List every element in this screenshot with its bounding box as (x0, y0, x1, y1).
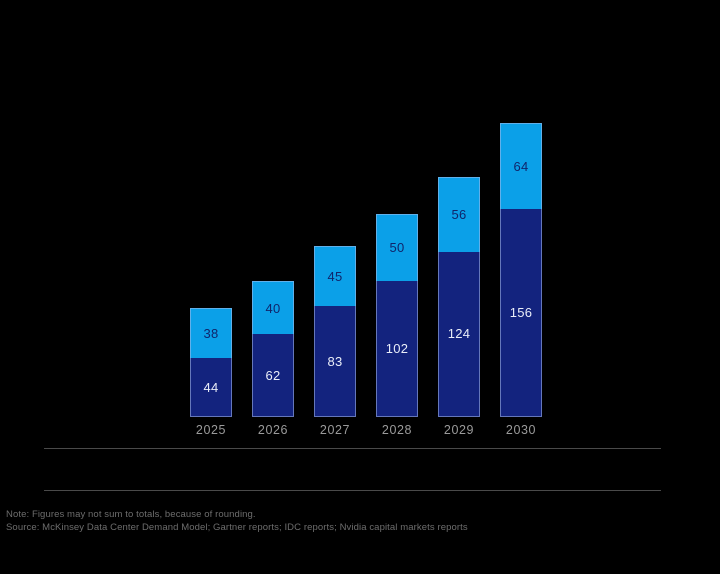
bar-value-label: 44 (203, 381, 218, 394)
x-axis-tick-labels: 202520262027202820292030 (185, 423, 545, 441)
bar-value-label: 83 (327, 355, 342, 368)
divider-rule-bottom (44, 490, 661, 491)
bar-value-label: 102 (386, 342, 409, 355)
x-tick-label-2025: 2025 (190, 423, 232, 437)
bar-segment-lower-2027[interactable]: 83 (314, 306, 356, 417)
bar-segment-upper-2026[interactable]: 40 (252, 281, 294, 334)
bar-segment-upper-2028[interactable]: 50 (376, 214, 418, 281)
bar-group-2026[interactable]: 4062 (252, 281, 294, 417)
x-tick-label-2029: 2029 (438, 423, 480, 437)
bar-group-2027[interactable]: 4583 (314, 246, 356, 417)
bar-value-label: 62 (265, 369, 280, 382)
bar-segment-lower-2029[interactable]: 124 (438, 252, 480, 418)
x-tick-label-2027: 2027 (314, 423, 356, 437)
x-tick-label-2026: 2026 (252, 423, 294, 437)
bar-segment-upper-2029[interactable]: 56 (438, 177, 480, 252)
plot-area: 384440624583501025612464156 (185, 110, 545, 417)
bar-group-2025[interactable]: 3844 (190, 308, 232, 417)
bar-value-label: 56 (451, 208, 466, 221)
bar-group-2028[interactable]: 50102 (376, 214, 418, 417)
divider-rule-top (44, 448, 661, 449)
bar-value-label: 45 (327, 270, 342, 283)
bar-group-2029[interactable]: 56124 (438, 177, 480, 417)
bar-group-2030[interactable]: 64156 (500, 123, 542, 417)
bar-value-label: 40 (265, 302, 280, 315)
bar-value-label: 156 (510, 306, 533, 319)
bar-value-label: 124 (448, 327, 471, 340)
x-tick-label-2030: 2030 (500, 423, 542, 437)
bar-value-label: 50 (389, 241, 404, 254)
bar-segment-lower-2028[interactable]: 102 (376, 281, 418, 417)
bar-segment-upper-2025[interactable]: 38 (190, 308, 232, 359)
footnote-note: Note: Figures may not sum to totals, bec… (6, 508, 706, 521)
x-tick-label-2028: 2028 (376, 423, 418, 437)
bar-segment-lower-2030[interactable]: 156 (500, 209, 542, 417)
bar-segment-lower-2025[interactable]: 44 (190, 358, 232, 417)
bar-value-label: 64 (513, 160, 528, 173)
chart-canvas: 384440624583501025612464156 202520262027… (0, 0, 720, 574)
footnote-block: Note: Figures may not sum to totals, bec… (6, 508, 706, 534)
bar-value-label: 38 (203, 327, 218, 340)
bar-segment-upper-2030[interactable]: 64 (500, 123, 542, 208)
footnote-source: Source: McKinsey Data Center Demand Mode… (6, 521, 706, 534)
bar-segment-lower-2026[interactable]: 62 (252, 334, 294, 417)
bar-segment-upper-2027[interactable]: 45 (314, 246, 356, 306)
